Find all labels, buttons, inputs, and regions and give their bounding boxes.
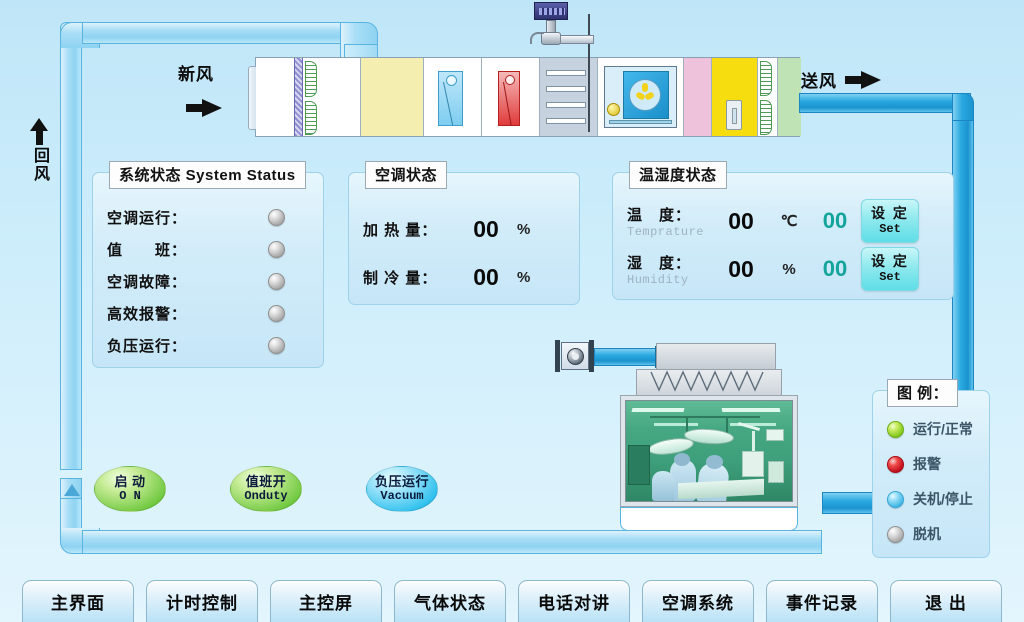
legend-item-stopped: 关机/停止 bbox=[887, 489, 981, 509]
ahu-section-prefilter bbox=[256, 58, 361, 136]
temp-humidity-panel: 温湿度状态 温 度： Temprature 00 ℃ 00 设 定 Set 湿 … bbox=[612, 172, 954, 300]
temperature-label-en: Temprature bbox=[627, 225, 713, 239]
status-lamp-negative-pressure bbox=[268, 337, 285, 354]
status-row: 负压运行： bbox=[107, 329, 309, 361]
return-duct-left-lower bbox=[60, 498, 82, 530]
hvac-mimic-screen: 新风 bbox=[0, 0, 1024, 622]
air-handling-unit bbox=[255, 57, 800, 137]
legend-list: 运行/正常 报警 关机/停止 脱机 bbox=[887, 419, 981, 544]
return-air-label: 回风 bbox=[27, 147, 51, 183]
tab-label: 空调系统 bbox=[662, 589, 734, 614]
humidity-unit: % bbox=[769, 261, 809, 278]
legend-label: 脱机 bbox=[913, 524, 941, 544]
ahu-section-filter-yellow bbox=[361, 58, 424, 136]
fresh-air-label-group: 新风 bbox=[178, 60, 222, 117]
status-label: 空调运行： bbox=[107, 207, 187, 228]
ahu-section-hepa-yellow bbox=[712, 58, 758, 136]
legend-title: 图 例： bbox=[887, 379, 958, 407]
left-damper-icon bbox=[60, 478, 82, 500]
temp-humidity-title: 温湿度状态 bbox=[629, 161, 727, 189]
humidity-value: 00 bbox=[713, 256, 769, 283]
tab-label: 气体状态 bbox=[414, 589, 486, 614]
hvac-row-label: 加 热 量： bbox=[363, 219, 455, 240]
temperature-row: 温 度： Temprature 00 ℃ 00 设 定 Set bbox=[627, 197, 943, 245]
hvac-status-panel: 空调状态 加 热 量： 00 % 制 冷 量： 00 % bbox=[348, 172, 580, 305]
return-duct-left-riser bbox=[60, 22, 82, 470]
legend-label: 运行/正常 bbox=[913, 419, 973, 439]
set-button-label-en: Set bbox=[879, 270, 901, 284]
fresh-air-arrow-icon bbox=[186, 99, 222, 117]
hvac-row-heating: 加 热 量： 00 % bbox=[363, 205, 567, 253]
legend-item-alarm: 报警 bbox=[887, 454, 981, 474]
tab-hvac-system[interactable]: 空调系统 bbox=[642, 580, 754, 622]
hvac-row-value: 00 bbox=[455, 264, 517, 291]
valve-body-icon bbox=[541, 32, 561, 45]
supply-air-arrow-icon bbox=[845, 71, 881, 89]
humidity-label-en: Humidity bbox=[627, 273, 713, 287]
vacuum-button-label-en: Vacuum bbox=[380, 489, 423, 503]
tab-event-log[interactable]: 事件记录 bbox=[766, 580, 878, 622]
tab-main-screen[interactable]: 主界面 bbox=[22, 580, 134, 622]
tab-main-control[interactable]: 主控屏 bbox=[270, 580, 382, 622]
set-button-label-en: Set bbox=[879, 222, 901, 236]
humidity-set-button[interactable]: 设 定 Set bbox=[861, 247, 919, 291]
return-duct-top bbox=[82, 22, 362, 44]
return-duct-bottom bbox=[82, 530, 822, 554]
status-lamp-ac-running bbox=[268, 209, 285, 226]
tab-timer-control[interactable]: 计时控制 bbox=[146, 580, 258, 622]
tab-intercom[interactable]: 电话对讲 bbox=[518, 580, 630, 622]
or-supply-plenum bbox=[656, 343, 776, 371]
legend-label: 关机/停止 bbox=[913, 489, 973, 509]
vacuum-button-label-cn: 负压运行 bbox=[375, 475, 429, 489]
temperature-label: 温 度： bbox=[627, 204, 713, 225]
status-row: 高效报警： bbox=[107, 297, 309, 329]
vacuum-button[interactable]: 负压运行 Vacuum bbox=[366, 466, 438, 512]
hvac-row-unit: % bbox=[517, 221, 530, 238]
legend-item-offline: 脱机 bbox=[887, 524, 981, 544]
ahu-section-cooling-coil bbox=[424, 58, 482, 136]
return-air-label-group: 回风 bbox=[27, 118, 51, 183]
supply-duct-top bbox=[799, 93, 971, 113]
tab-label: 电话对讲 bbox=[538, 589, 610, 614]
hvac-row-unit: % bbox=[517, 269, 530, 286]
hvac-status-title: 空调状态 bbox=[365, 161, 447, 189]
tab-gas-status[interactable]: 气体状态 bbox=[394, 580, 506, 622]
valve-actuator-icon bbox=[534, 2, 568, 20]
onduty-button-label-en: Onduty bbox=[244, 489, 287, 503]
status-row: 空调故障： bbox=[107, 265, 309, 297]
start-button-label-cn: 启 动 bbox=[114, 475, 145, 489]
tab-label: 事件记录 bbox=[786, 589, 858, 614]
status-lamp-hepa-alarm bbox=[268, 305, 285, 322]
return-air-arrow-icon bbox=[30, 118, 48, 145]
temperature-set-button[interactable]: 设 定 Set bbox=[861, 199, 919, 243]
supply-air-label: 送风 bbox=[801, 67, 837, 92]
status-label: 空调故障： bbox=[107, 271, 187, 292]
system-status-list: 空调运行： 值 班： 空调故障： 高效报警： 负压运行： bbox=[107, 201, 309, 361]
set-button-label-cn: 设 定 bbox=[871, 206, 909, 221]
tab-exit[interactable]: 退 出 bbox=[890, 580, 1002, 622]
humidity-label: 湿 度： bbox=[627, 252, 713, 273]
hepa-diffuser-box bbox=[636, 369, 782, 397]
tab-label: 退 出 bbox=[925, 589, 967, 614]
hvac-row-label: 制 冷 量： bbox=[363, 267, 455, 288]
legend-lamp-red bbox=[887, 456, 904, 473]
supply-air-label-group: 送风 bbox=[801, 67, 881, 92]
legend-item-running: 运行/正常 bbox=[887, 419, 981, 439]
status-label: 值 班： bbox=[107, 239, 187, 260]
or-return-duct-bottom bbox=[620, 507, 798, 531]
hvac-status-rows: 加 热 量： 00 % 制 冷 量： 00 % bbox=[363, 205, 567, 301]
onduty-button-label-cn: 值班开 bbox=[246, 475, 287, 489]
status-label: 负压运行： bbox=[107, 335, 187, 356]
legend-panel: 图 例： 运行/正常 报警 关机/停止 脱机 bbox=[872, 390, 990, 558]
hvac-row-cooling: 制 冷 量： 00 % bbox=[363, 253, 567, 301]
status-row: 空调运行： bbox=[107, 201, 309, 233]
temperature-setpoint: 00 bbox=[809, 208, 861, 234]
status-label: 高效报警： bbox=[107, 303, 187, 324]
system-status-title: 系统状态 System Status bbox=[109, 161, 306, 189]
control-valve-assembly bbox=[530, 2, 596, 54]
start-button-label-en: O N bbox=[119, 489, 141, 503]
status-lamp-ac-fault bbox=[268, 273, 285, 290]
ahu-section-heating-coil bbox=[482, 58, 540, 136]
system-status-panel: 系统状态 System Status 空调运行： 值 班： 空调故障： 高效报警… bbox=[92, 172, 324, 368]
legend-lamp-gray bbox=[887, 526, 904, 543]
tab-label: 主界面 bbox=[51, 589, 105, 614]
exhaust-fan-frame-left bbox=[555, 340, 560, 372]
exhaust-fan-icon bbox=[561, 342, 589, 370]
tab-label: 主控屏 bbox=[299, 589, 353, 614]
ahu-section-outlet-green bbox=[778, 58, 801, 136]
legend-lamp-blue bbox=[887, 491, 904, 508]
legend-label: 报警 bbox=[913, 454, 941, 474]
set-button-label-cn: 设 定 bbox=[871, 254, 909, 269]
ahu-section-humidifier bbox=[540, 58, 598, 136]
hvac-row-value: 00 bbox=[455, 216, 517, 243]
humidity-setpoint: 00 bbox=[809, 256, 861, 282]
bottom-tab-bar: 主界面 计时控制 主控屏 气体状态 电话对讲 空调系统 事件记录 退 出 bbox=[0, 580, 1024, 622]
ahu-section-fan bbox=[598, 58, 684, 136]
ahu-section-final-coil bbox=[758, 58, 778, 136]
temperature-unit: ℃ bbox=[769, 212, 809, 230]
status-lamp-on-duty bbox=[268, 241, 285, 258]
temperature-value: 00 bbox=[713, 208, 769, 235]
operating-room-view bbox=[620, 395, 798, 507]
onduty-button[interactable]: 值班开 Onduty bbox=[230, 466, 302, 512]
status-row: 值 班： bbox=[107, 233, 309, 265]
ahu-section-filter-pink bbox=[684, 58, 712, 136]
tab-label: 计时控制 bbox=[166, 589, 238, 614]
legend-lamp-green bbox=[887, 421, 904, 438]
operating-room-photo bbox=[625, 400, 793, 502]
humidity-row: 湿 度： Humidity 00 % 00 设 定 Set bbox=[627, 245, 943, 293]
start-button[interactable]: 启 动 O N bbox=[94, 466, 166, 512]
fresh-air-label: 新风 bbox=[178, 60, 222, 85]
